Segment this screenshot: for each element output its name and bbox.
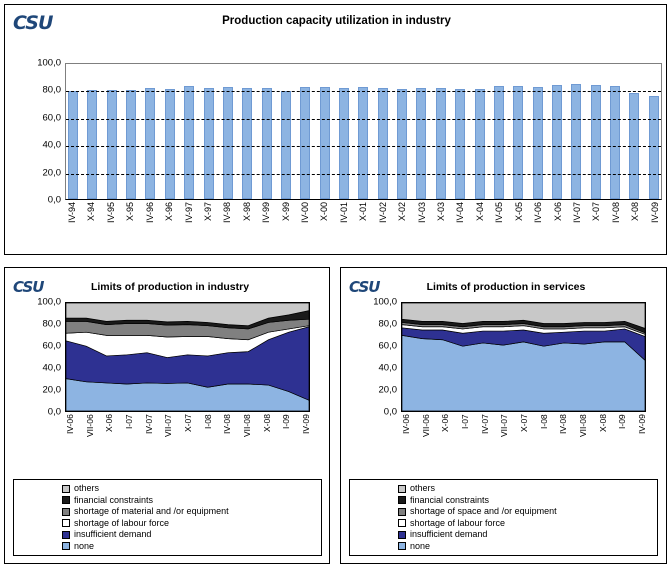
legend-item: shortage of labour force [62,518,321,529]
bar [320,87,330,199]
y-axis-tick-label: 60,0 [43,341,62,352]
legend-label: shortage of labour force [74,519,169,528]
x-axis-tick-label: IV-08 [222,414,231,458]
x-axis-tick-label: X-06 [104,414,113,458]
bar [358,87,368,199]
x-axis-tick-label: X-00 [319,202,329,248]
x-axis-tick-label: IV-05 [494,202,504,248]
bar [184,86,194,199]
y-axis-tick-label: 80,0 [379,319,398,330]
y-axis-tick-label: 20,0 [43,385,62,396]
x-axis-tick-label: IV-07 [480,414,489,458]
x-axis-tick-label: I-08 [539,414,548,458]
bar [107,90,117,199]
legend-label: none [410,542,430,551]
x-axis-tick-label: IV-02 [378,202,388,248]
x-axis-tick-label: X-07 [183,414,192,458]
services-chart-y-axis: 0,020,040,060,080,0100,0 [349,302,397,412]
legend-label: financial constraints [410,496,489,505]
x-axis-tick-label: IV-00 [300,202,310,248]
x-axis-tick-label: VII-07 [163,414,172,458]
x-axis-tick-label: X-02 [397,202,407,248]
x-axis-tick-label: IV-96 [145,202,155,248]
top-chart-x-axis: IV-94X-94IV-95X-95IV-96X-96IV-97X-97IV-9… [65,202,662,252]
x-axis-tick-label: X-04 [475,202,485,248]
legend-item: others [62,483,321,494]
services-legend: othersfinancial constraintsshortage of s… [349,479,658,556]
x-axis-tick-label: IV-07 [144,414,153,458]
chart-title: Limits of production in industry [45,281,295,293]
x-axis-tick-label: X-98 [242,202,252,248]
bar [591,85,601,199]
x-axis-tick-label: IV-98 [222,202,232,248]
legend-item: others [398,483,657,494]
x-axis-tick-label: VII-08 [578,414,587,458]
legend-item: none [398,541,657,552]
legend-label: none [74,542,94,551]
capacity-utilization-panel: CSU Production capacity utilization in i… [4,4,667,255]
legend-item: shortage of labour force [398,518,657,529]
x-axis-tick-label: IV-04 [455,202,465,248]
y-axis-tick-label: 0,0 [48,195,61,206]
legend-swatch [398,508,406,516]
bar [397,89,407,199]
y-axis-tick-label: 100,0 [373,297,397,308]
x-axis-tick-label: X-06 [553,202,563,248]
x-axis-tick-label: IV-94 [67,202,77,248]
x-axis-tick-label: VII-06 [85,414,94,458]
bar [610,86,620,199]
x-axis-tick-label: IV-09 [637,414,646,458]
legend-label: shortage of material and /or equipment [74,507,229,516]
legend-swatch [62,508,70,516]
y-axis-tick-label: 60,0 [43,112,62,123]
x-axis-tick-label: X-01 [358,202,368,248]
x-axis-tick-label: X-07 [519,414,528,458]
industry-legend: othersfinancial constraintsshortage of m… [13,479,322,556]
x-axis-tick-label: I-07 [460,414,469,458]
top-chart-plot-area [65,63,662,200]
limits-industry-panel: CSU Limits of production in industry 0,0… [4,267,330,564]
legend-item: shortage of material and /or equipment [62,506,321,517]
x-axis-tick-label: IV-07 [572,202,582,248]
y-axis-tick-label: 40,0 [379,363,398,374]
bar [87,90,97,199]
y-axis-tick-label: 20,0 [43,167,62,178]
services-chart-x-axis: IV-06VII-06X-06I-07IV-07VII-07X-07I-08IV… [401,414,646,464]
bar [494,86,504,199]
legend-item: financial constraints [398,495,657,506]
legend-swatch [62,496,70,504]
x-axis-tick-label: X-94 [86,202,96,248]
x-axis-tick-label: X-97 [203,202,213,248]
x-axis-tick-label: IV-08 [558,414,567,458]
x-axis-tick-label: IV-09 [650,202,660,248]
y-axis-tick-label: 40,0 [43,363,62,374]
bar [223,87,233,199]
bar [165,89,175,199]
bar [339,88,349,199]
x-axis-tick-label: I-09 [617,414,626,458]
y-axis-tick-label: 0,0 [48,407,61,418]
legend-item: financial constraints [62,495,321,506]
x-axis-tick-label: IV-95 [106,202,116,248]
industry-chart-x-axis: IV-06VII-06X-06I-07IV-07VII-07X-07I-08IV… [65,414,310,464]
bar [571,84,581,199]
bar [552,85,562,199]
y-axis-tick-label: 80,0 [43,85,62,96]
legend-swatch [62,485,70,493]
y-axis-tick-label: 100,0 [37,58,61,69]
bar [281,91,291,200]
bar [242,88,252,199]
bar [455,89,465,199]
legend-item: insufficient demand [398,529,657,540]
x-axis-tick-label: X-95 [125,202,135,248]
industry-area-series [66,303,309,411]
x-axis-tick-label: X-08 [630,202,640,248]
x-axis-tick-label: IV-99 [261,202,271,248]
x-axis-tick-label: VII-08 [242,414,251,458]
x-axis-tick-label: IV-03 [417,202,427,248]
bar [126,90,136,199]
bar [436,88,446,199]
legend-label: shortage of space and /or equipment [410,507,557,516]
legend-swatch [398,542,406,550]
legend-label: others [74,484,99,493]
y-axis-tick-label: 40,0 [43,140,62,151]
legend-label: insufficient demand [410,530,487,539]
legend-swatch [398,496,406,504]
x-axis-tick-label: X-05 [514,202,524,248]
x-axis-tick-label: X-99 [281,202,291,248]
gridline [66,91,661,92]
x-axis-tick-label: IV-01 [339,202,349,248]
x-axis-tick-label: X-03 [436,202,446,248]
bar [378,88,388,199]
chart-title: Limits of production in services [381,281,631,293]
bar [513,86,523,199]
top-chart-y-axis: 0,020,040,060,080,0100,0 [15,63,61,200]
x-axis-tick-label: IV-08 [611,202,621,248]
industry-chart-y-axis: 0,020,040,060,080,0100,0 [13,302,61,412]
x-axis-tick-label: IV-06 [65,414,74,458]
x-axis-tick-label: I-07 [124,414,133,458]
legend-item: shortage of space and /or equipment [398,506,657,517]
csu-logo: CSU [349,278,379,296]
x-axis-tick-label: IV-06 [533,202,543,248]
legend-label: insufficient demand [74,530,151,539]
bar [649,96,659,199]
industry-chart-plot-area [65,302,310,412]
gridline [66,174,661,175]
legend-swatch [398,531,406,539]
x-axis-tick-label: X-96 [164,202,174,248]
area-band [402,335,645,411]
y-axis-tick-label: 0,0 [384,407,397,418]
legend-label: others [410,484,435,493]
legend-label: financial constraints [74,496,153,505]
limits-services-panel: CSU Limits of production in services 0,0… [340,267,667,564]
bar [204,88,214,199]
bar [262,88,272,199]
x-axis-tick-label: X-08 [262,414,271,458]
legend-swatch [398,485,406,493]
legend-swatch [62,531,70,539]
bar [475,89,485,199]
bar-series [66,64,661,199]
x-axis-tick-label: IV-09 [301,414,310,458]
x-axis-tick-label: I-09 [281,414,290,458]
x-axis-tick-label: X-08 [598,414,607,458]
services-area-series [402,303,645,411]
gridline [66,119,661,120]
x-axis-tick-label: IV-97 [184,202,194,248]
legend-swatch [62,542,70,550]
x-axis-tick-label: X-07 [591,202,601,248]
bar [145,88,155,199]
y-axis-tick-label: 80,0 [43,319,62,330]
x-axis-tick-label: I-08 [203,414,212,458]
x-axis-tick-label: VII-07 [499,414,508,458]
y-axis-tick-label: 20,0 [379,385,398,396]
y-axis-tick-label: 100,0 [37,297,61,308]
bar [533,87,543,199]
legend-swatch [398,519,406,527]
legend-item: insufficient demand [62,529,321,540]
csu-logo: CSU [13,278,43,296]
x-axis-tick-label: X-06 [440,414,449,458]
bar [68,91,78,199]
services-chart-plot-area [401,302,646,412]
legend-swatch [62,519,70,527]
legend-label: shortage of labour force [410,519,505,528]
bar [416,88,426,199]
y-axis-tick-label: 60,0 [379,341,398,352]
bar [300,87,310,199]
x-axis-tick-label: IV-06 [401,414,410,458]
legend-item: none [62,541,321,552]
x-axis-tick-label: VII-06 [421,414,430,458]
gridline [66,146,661,147]
page-title: Production capacity utilization in indus… [5,15,668,27]
